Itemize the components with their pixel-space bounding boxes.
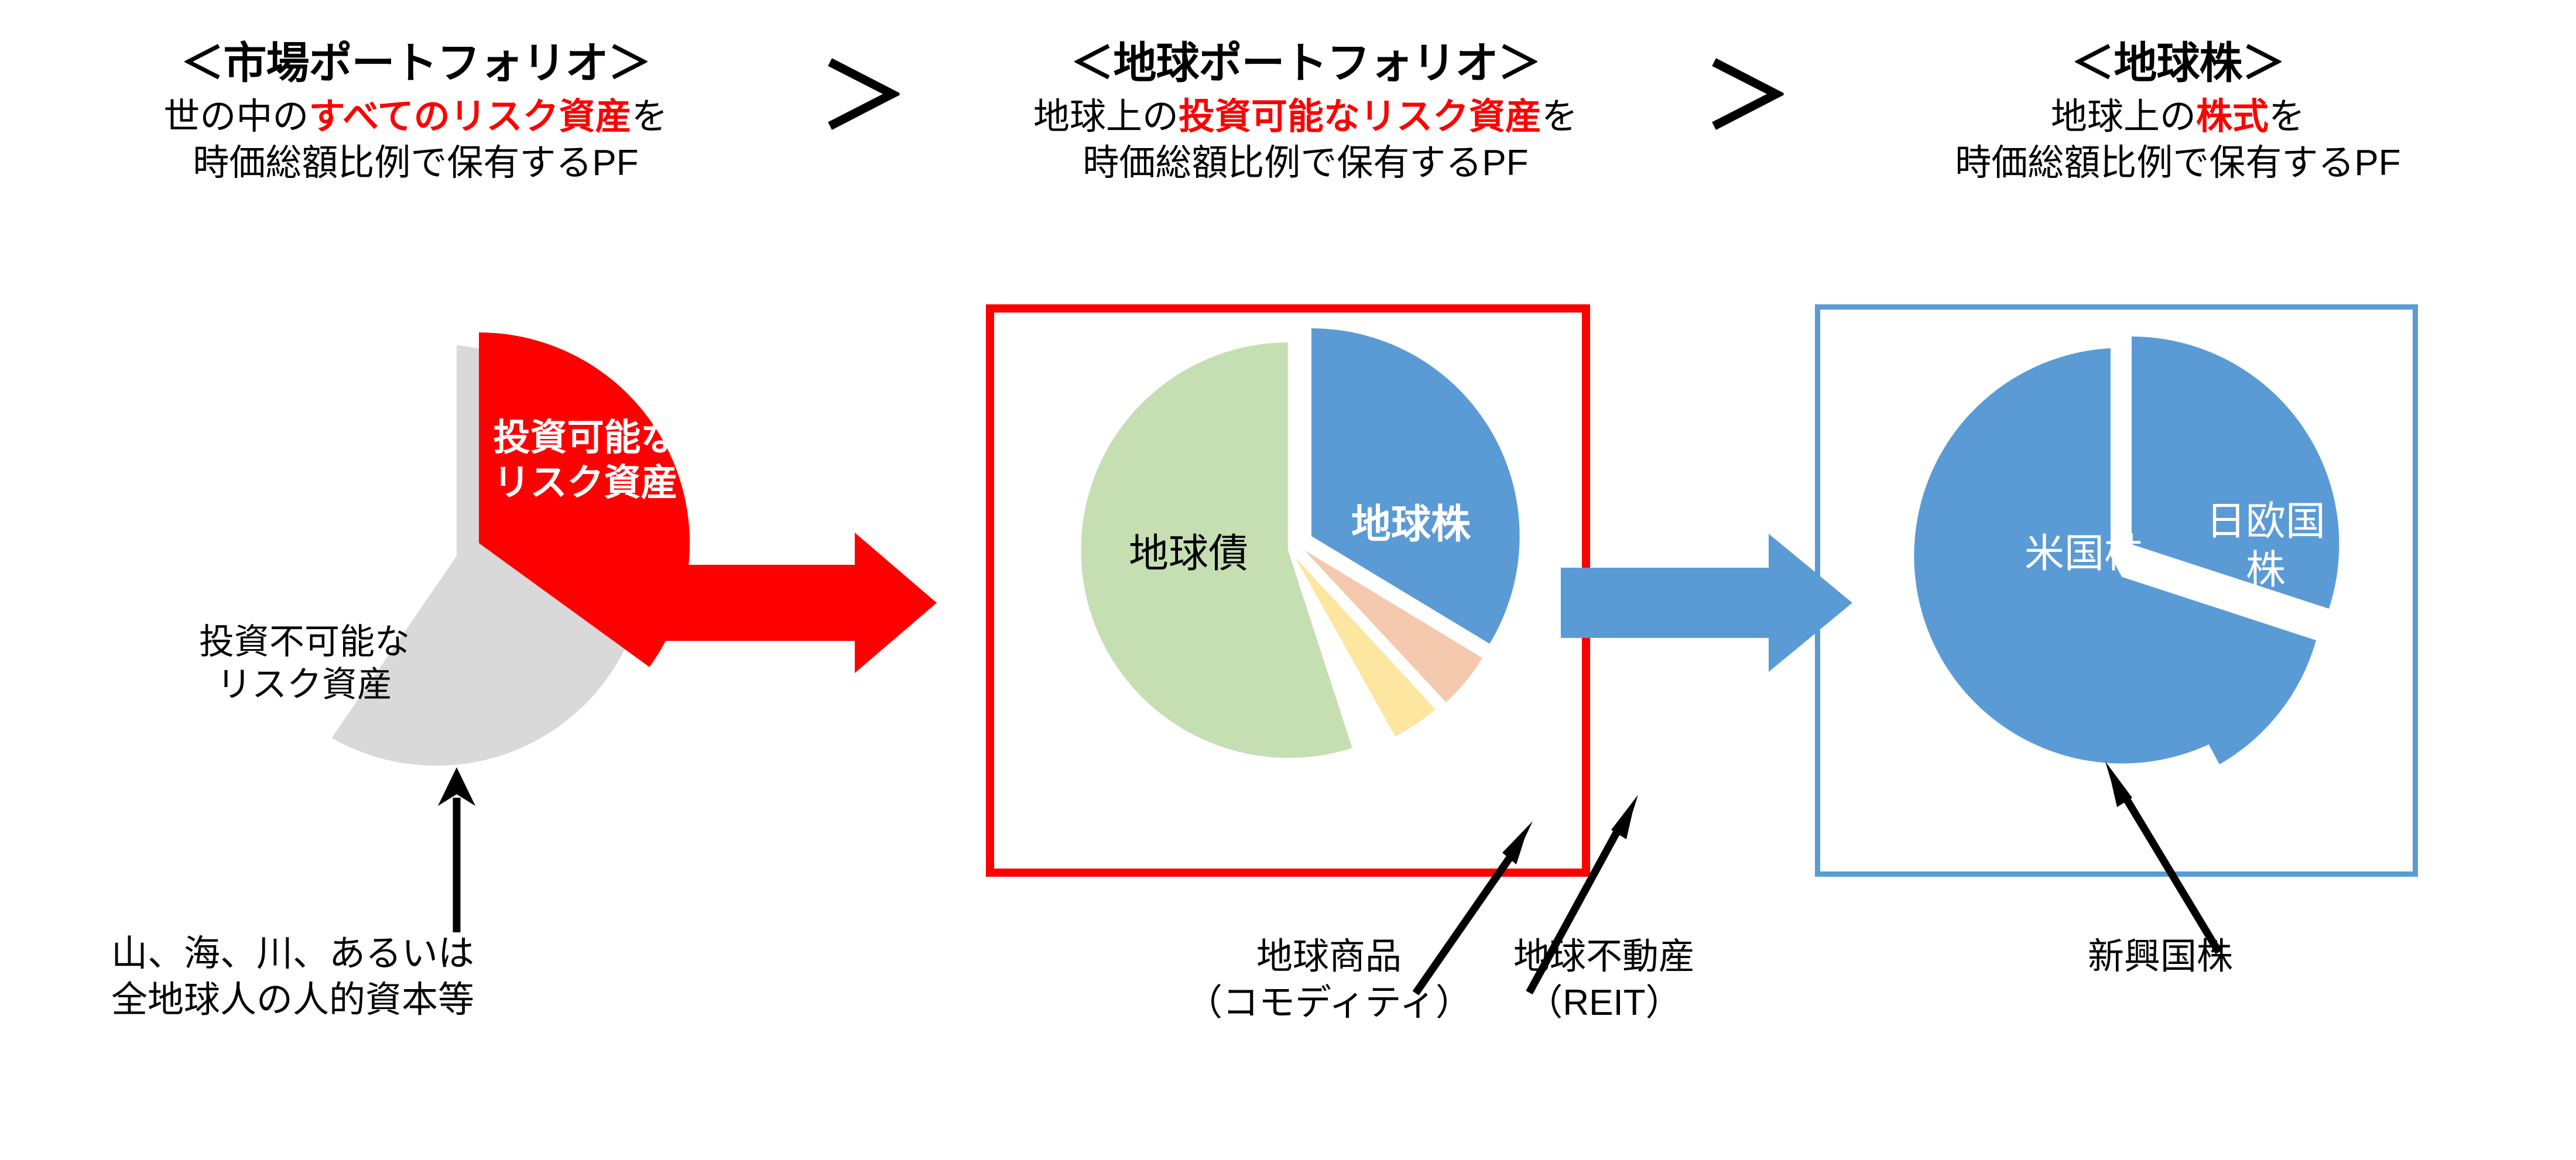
pie-label-us-equity: 米国株 (1961, 530, 2207, 578)
pie-label-invest-impossible-line1: 投資不可能な (164, 620, 445, 663)
pie-label-invest-possible-line2: リスク資産 (457, 461, 714, 506)
caption-em-equity: 新興国株 (1973, 934, 2348, 980)
panel3-subtitle-pre: 地球上の (2051, 97, 2196, 137)
panel2-subtitle-pre: 地球上の (1033, 97, 1179, 137)
panel1-subtitle-line1: 世の中のすべてのリスク資産を (0, 94, 831, 140)
pie-label-jp-eu-equity-line2: 株 (2178, 546, 2354, 595)
caption-human-capital: 山、海、川、あるいは 全地球人の人的資本等 (0, 931, 585, 1024)
pie-label-earth-equity: 地球株 (1288, 500, 1534, 549)
panel3-subtitle: 地球上の株式を 時価総額比例で保有するPF (1780, 94, 2576, 187)
caption-human-capital-line1: 山、海、川、あるいは (0, 931, 585, 977)
panel2-subtitle: 地球上の投資可能なリスク資産を 時価総額比例で保有するPF (831, 94, 1780, 187)
caption-earth-commodity-line1: 地球商品 (1177, 934, 1481, 980)
pie-label-jp-eu-equity: 日欧国 株 (2178, 497, 2354, 595)
panel1-title: ＜市場ポートフォリオ＞ (0, 28, 831, 91)
panel3-subtitle-post: を (2269, 97, 2305, 137)
panel2-subtitle-post: を (1542, 97, 1578, 137)
panel2-subtitle-highlight: 投資可能なリスク資産 (1179, 97, 1542, 137)
caption-human-capital-line2: 全地球人の人的資本等 (0, 977, 585, 1023)
caption-earth-reit-line2: （REIT） (1452, 980, 1756, 1026)
pie-label-invest-possible-line1: 投資可能な (457, 416, 714, 461)
panel3-subtitle-line2: 時価総額比例で保有するPF (1780, 140, 2576, 186)
pie-label-invest-possible: 投資可能な リスク資産 (457, 416, 714, 506)
callout-arrow-em-equity (2096, 758, 2248, 957)
panel2-subtitle-line1: 地球上の投資可能なリスク資産を (831, 94, 1780, 140)
pie-label-invest-impossible: 投資不可能な リスク資産 (164, 620, 445, 706)
pie-slice-earth-equity (1311, 328, 1520, 644)
panel2-subtitle-line2: 時価総額比例で保有するPF (831, 140, 1780, 186)
pie-label-jp-eu-equity-line1: 日欧国 (2178, 497, 2354, 546)
panel3-subtitle-line1: 地球上の株式を (1780, 94, 2576, 140)
caption-earth-reit-line1: 地球不動産 (1452, 934, 1756, 980)
panel-earth-portfolio: ＜地球ポートフォリオ＞ 地球上の投資可能なリスク資産を 時価総額比例で保有するP… (831, 0, 1780, 1160)
separator-chevron-2: ＞ (1704, 53, 1791, 140)
panel1-subtitle-highlight: すべてのリスク資産 (309, 97, 631, 137)
pie-label-earth-bonds: 地球債 (1066, 530, 1311, 578)
panel-earth-equity: ＜地球株＞ 地球上の株式を 時価総額比例で保有するPF 米国株 日欧国 株 新興… (1780, 0, 2576, 1160)
callout-arrow-human-capital (422, 764, 492, 934)
pie-label-invest-impossible-line2: リスク資産 (164, 663, 445, 706)
panel-market-portfolio: ＜市場ポートフォリオ＞ 世の中のすべてのリスク資産を 時価総額比例で保有するPF… (0, 0, 831, 1160)
panel1-subtitle-line2: 時価総額比例で保有するPF (0, 140, 831, 186)
caption-earth-commodity-line2: （コモディティ） (1177, 980, 1481, 1026)
caption-earth-reit: 地球不動産 （REIT） (1452, 934, 1756, 1027)
panel2-title: ＜地球ポートフォリオ＞ (831, 28, 1780, 91)
panel3-title: ＜地球株＞ (1780, 28, 2576, 91)
panel1-subtitle-post: を (632, 97, 668, 137)
panel3-subtitle-highlight: 株式 (2196, 97, 2269, 137)
caption-earth-commodity: 地球商品 （コモディティ） (1177, 934, 1481, 1027)
panel1-subtitle: 世の中のすべてのリスク資産を 時価総額比例で保有するPF (0, 94, 831, 187)
panel1-subtitle-pre: 世の中の (163, 97, 309, 137)
